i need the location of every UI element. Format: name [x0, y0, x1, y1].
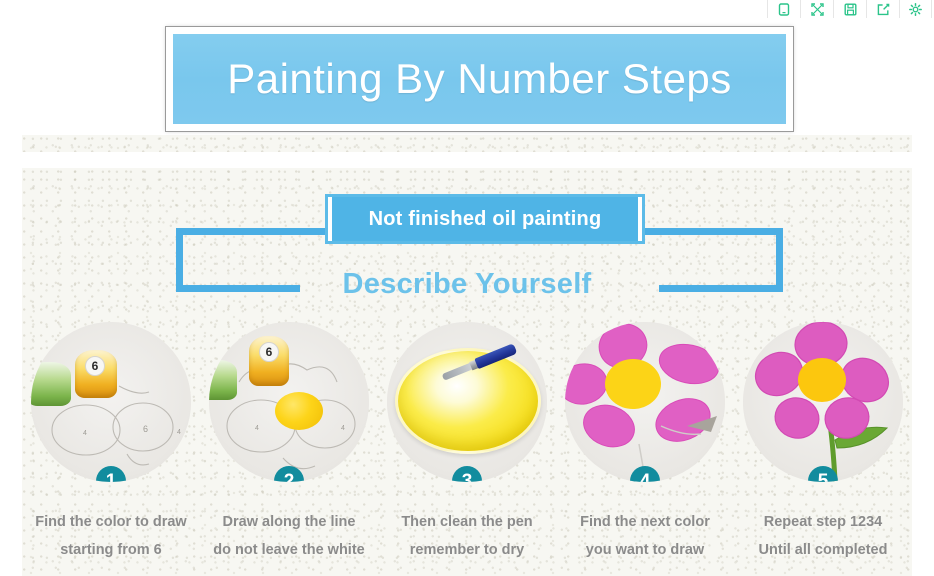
step-caption: Find the next color you want to draw [580, 508, 710, 565]
page-title-banner: Painting By Number Steps [166, 27, 793, 131]
expand-icon [811, 3, 824, 16]
step-caption-line-1: Find the color to draw [35, 508, 186, 536]
not-finished-label: Not finished oil painting [369, 208, 602, 231]
settings-button[interactable] [899, 0, 932, 18]
step-item: 3 Then clean the pen remember to dry [378, 322, 556, 565]
paint-pot-number-label: 6 [85, 356, 105, 376]
step-item: 5 Repeat step 1234 Until all completed [734, 322, 912, 565]
svg-text:4: 4 [255, 425, 259, 432]
page-title: Painting By Number Steps [227, 58, 732, 100]
not-finished-chip-fill: Not finished oil painting [332, 197, 638, 241]
step-item: 4 4 6 2 Draw along the line do not leave… [200, 322, 378, 565]
step-caption: Then clean the pen remember to dry [401, 508, 532, 565]
step-item: 4 Find the next color you want to draw [556, 322, 734, 565]
step-caption: Draw along the line do not leave the whi… [213, 508, 364, 565]
step-caption-line-2: starting from 6 [35, 536, 186, 564]
step-3-photo: 3 [387, 322, 547, 482]
step-4-photo: 4 [565, 322, 725, 482]
texture-band-top [22, 135, 912, 152]
save-icon [844, 3, 857, 16]
step-caption-line-1: Draw along the line [213, 508, 364, 536]
steps-row: 6 4 4 6 1 Find the color to draw startin… [22, 322, 912, 565]
save-button[interactable] [833, 0, 866, 18]
share-icon [877, 3, 890, 16]
step-1-photo: 6 4 4 6 1 [31, 322, 191, 482]
step-caption-line-1: Repeat step 1234 [759, 508, 888, 536]
step-5-photo: 5 [743, 322, 903, 482]
mobile-preview-button[interactable] [767, 0, 800, 18]
step-caption-line-2: remember to dry [401, 536, 532, 564]
svg-text:4: 4 [177, 429, 181, 436]
green-paint-pot [209, 360, 237, 400]
fullscreen-button[interactable] [800, 0, 833, 18]
share-button[interactable] [866, 0, 899, 18]
completed-flower-art [743, 322, 903, 482]
not-finished-chip: Not finished oil painting [325, 194, 645, 244]
svg-text:4: 4 [341, 425, 345, 432]
step-caption-line-2: do not leave the white [213, 536, 364, 564]
paint-pot-number-label: 6 [259, 342, 279, 362]
step-caption-line-1: Find the next color [580, 508, 710, 536]
step-caption-line-2: you want to draw [580, 536, 710, 564]
pink-flower-art [565, 322, 725, 482]
step-caption-line-2: Until all completed [759, 536, 888, 564]
texture-band-gap [22, 168, 912, 176]
step-caption: Repeat step 1234 Until all completed [759, 508, 888, 565]
step-2-photo: 4 4 6 2 [209, 322, 369, 482]
step-item: 6 4 4 6 1 Find the color to draw startin… [22, 322, 200, 565]
mobile-icon [778, 3, 790, 16]
svg-text:4: 4 [83, 430, 87, 437]
describe-yourself-heading: Describe Yourself [0, 268, 934, 301]
gear-icon [909, 3, 922, 16]
step-caption-line-1: Then clean the pen [401, 508, 532, 536]
top-toolbar [767, 0, 932, 18]
yellow-paint-fill [275, 392, 323, 430]
svg-text:6: 6 [143, 424, 148, 434]
step-caption: Find the color to draw starting from 6 [35, 508, 186, 565]
green-paint-pot [31, 362, 71, 406]
